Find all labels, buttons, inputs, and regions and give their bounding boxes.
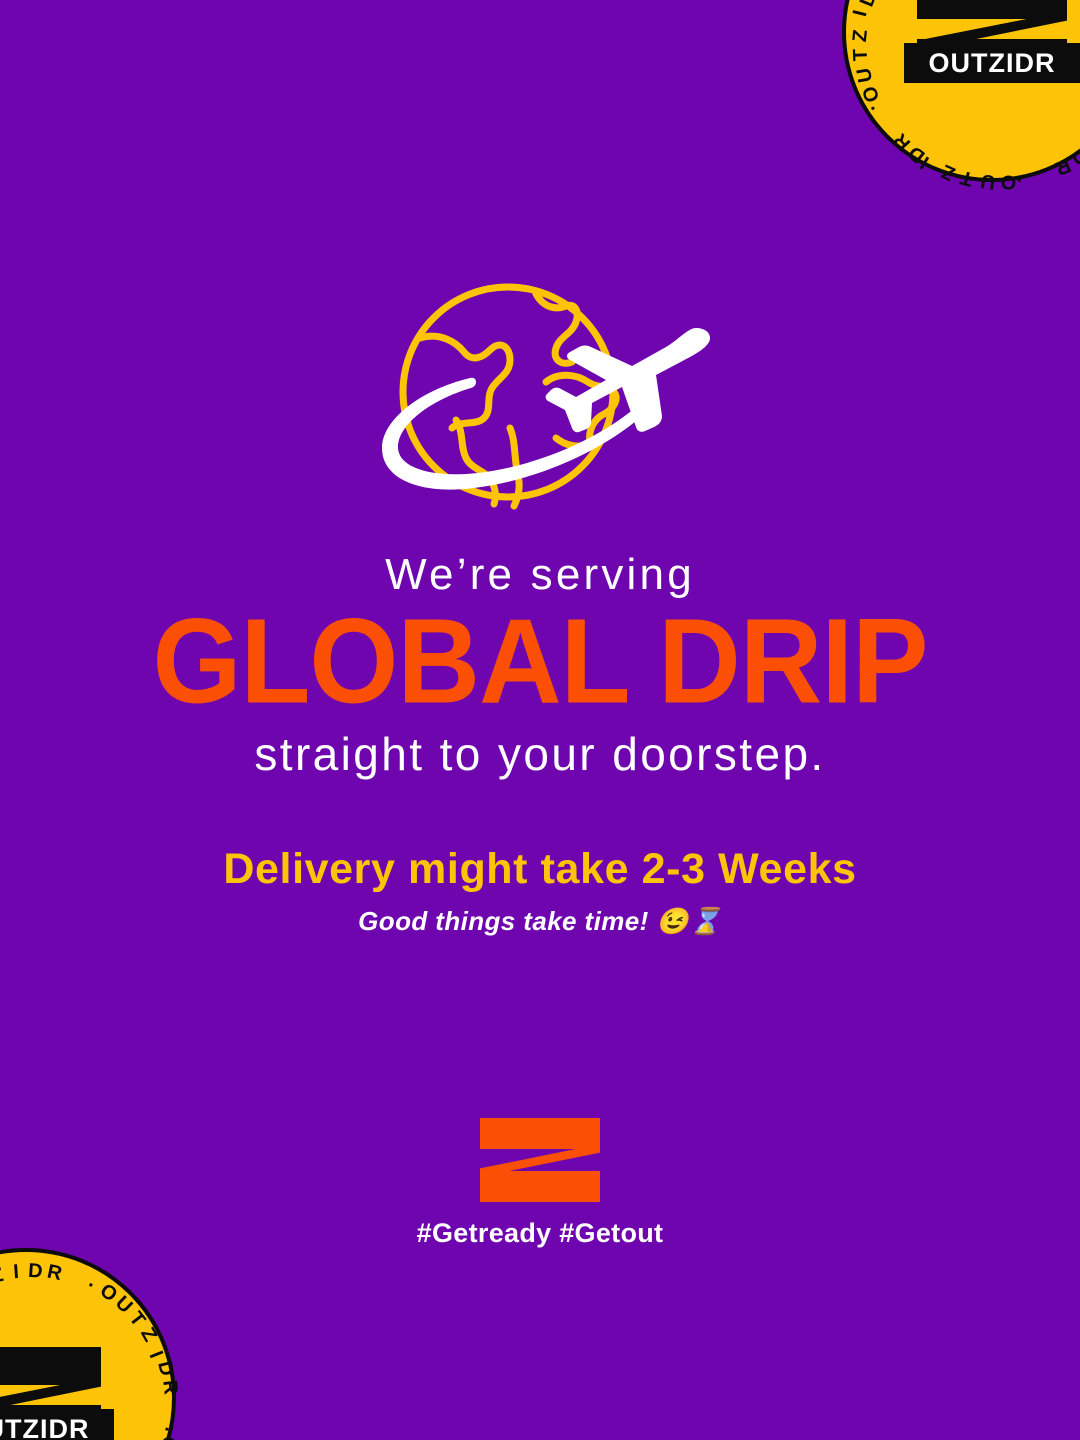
hero-illustration [0,270,1080,510]
badge-core: OUTZIDR [899,0,1080,83]
badge-ring-char: I [144,1348,168,1362]
headline-main: GLOBAL DRIP [0,600,1080,723]
badge-ring-char: Z [135,1324,161,1347]
poster-canvas: OUTZIDR·OUTZIDR·OUTZIDR·OUTZIDR·OUTZIDR·… [0,0,1080,1440]
badge-ring-char: I [13,1261,21,1284]
headline-line-3: straight to your doorstep. [0,730,1080,778]
footer-lockup: #Getready #Getout [0,1118,1080,1249]
brand-badge-bottom-left: OUTZIDR·OUTZIDR·OUTZIDR·OUTZIDR·OUTZIDR·… [0,1248,176,1440]
hashtags: #Getready #Getout [0,1218,1080,1249]
badge-ring-char: Z [0,1264,6,1289]
badge-core: OUTZIDR [0,1347,119,1440]
delivery-notice: Delivery might take 2-3 Weeks [0,845,1080,894]
badge-wordmark-text: OUTZIDR [929,48,1056,79]
badge-ring-char: T [850,48,873,62]
badge-ring-char: D [27,1260,44,1284]
badge-ring-char: D [152,1359,178,1379]
badge-ring-char: O [154,1433,181,1440]
badge-ring-char: R [45,1261,65,1287]
badge-ring-char: I [849,7,873,19]
badge-ring-char: · [154,1424,178,1435]
badge-ring-char: U [979,168,997,193]
badge-ring-char: Z [938,159,959,185]
headline-line-1: We’re serving [0,552,1080,598]
badge-ring-char: Z [849,28,873,43]
badge-wordmark-text: OUTZIDR [0,1414,89,1440]
brand-badge-top-right: OUTZIDR·OUTZIDR·OUTZIDR·OUTZIDR·OUTZIDR·… [842,0,1080,182]
badge-wordmark: OUTZIDR [904,43,1080,83]
badge-ring-char: T [957,165,976,191]
badge-ring-char: R [157,1379,181,1396]
tagline: Good things take time! 😉⌛ [0,906,1080,937]
globe-airplane-icon [360,270,720,510]
z-logo-icon [480,1118,600,1202]
badge-ring-char: D [856,0,883,10]
headline-block: We’re serving GLOBAL DRIP straight to yo… [0,552,1080,937]
badge-ring-char: U [853,65,878,84]
badge-wordmark: OUTZIDR [0,1409,114,1440]
